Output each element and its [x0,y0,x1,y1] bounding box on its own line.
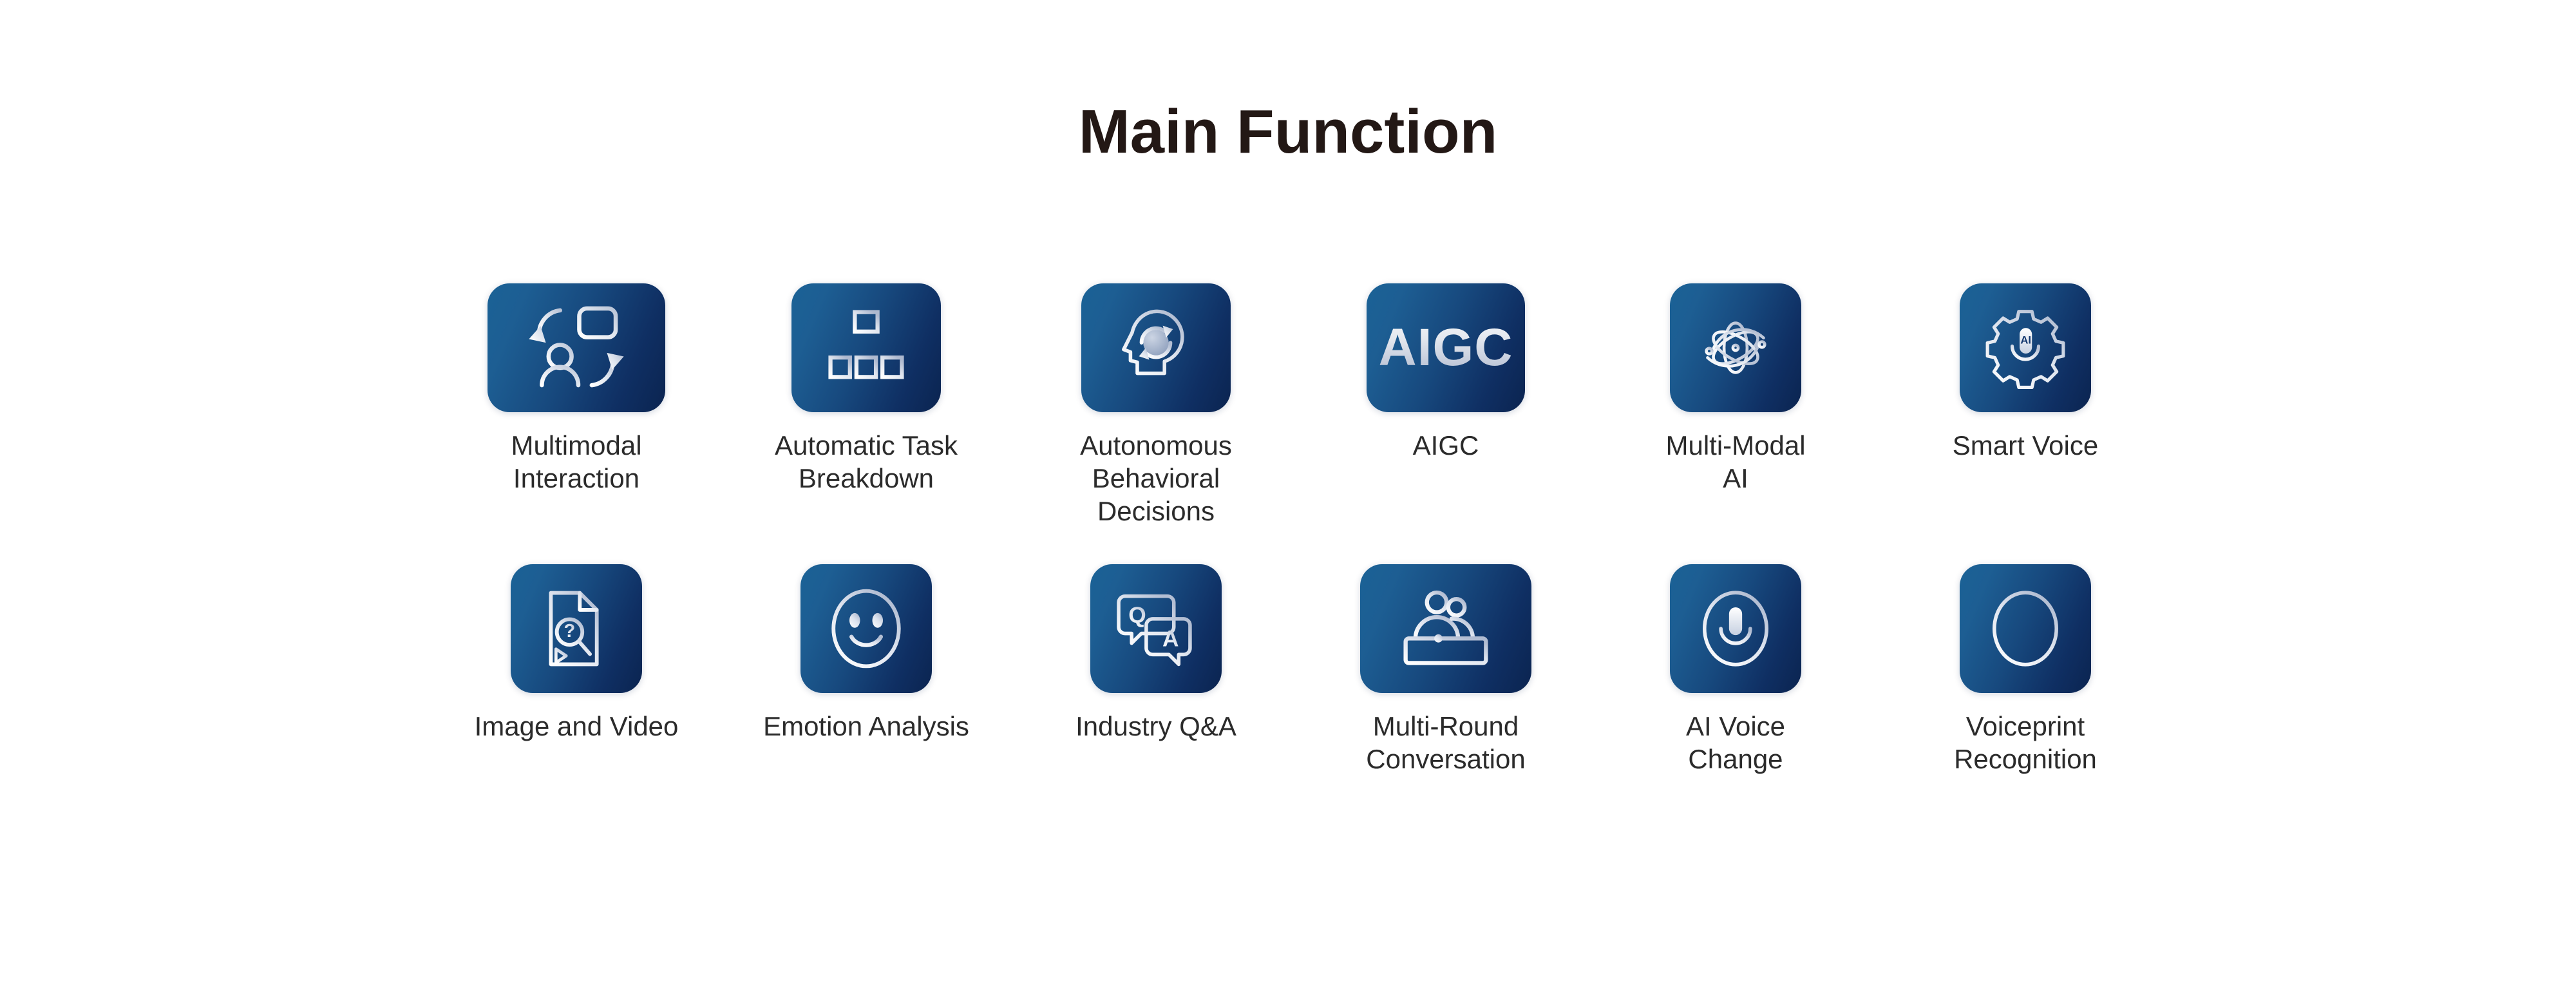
page-title: Main Function [0,97,2576,167]
feature-label: Emotion Analysis [763,710,969,743]
tile-multi-round-conversation[interactable] [1360,564,1531,693]
feature-multi-round-conversation[interactable]: Multi-Round Conversation [1301,564,1591,775]
svg-text:AI: AI [2020,334,2031,346]
feature-label: Smart Voice [1953,429,2098,462]
feature-label: Multimodal Interaction [511,429,641,495]
atom-orbit-icon [1694,307,1777,389]
feature-voiceprint-recognition[interactable]: Voiceprint Recognition [1880,564,2170,775]
qa-speech-bubbles-icon: Q A [1115,586,1197,671]
feature-label: Multi-Round Conversation [1366,710,1525,775]
tile-ai-voice-change[interactable] [1670,564,1801,693]
hierarchy-tree-icon [826,307,907,388]
svg-text:A: A [1162,626,1179,651]
aigc-text-icon: AIGC [1379,318,1513,378]
feature-label: Multi-Modal AI [1665,429,1805,495]
smiley-face-icon [825,586,907,671]
feature-label: AIGC [1413,429,1479,462]
tile-autonomous-behavioral-decisions[interactable] [1081,283,1231,412]
user-screen-sync-icon [528,303,625,393]
tile-multimodal-interaction[interactable] [488,283,665,412]
voice-waveform-circle-icon [1984,586,2067,671]
feature-multimodal-interaction[interactable]: Multimodal Interaction [431,283,721,495]
feature-ai-voice-change[interactable]: AI Voice Change [1591,564,1880,775]
feature-smart-voice[interactable]: AI Smart Voice [1880,283,2170,462]
feature-label: Automatic Task Breakdown [775,429,958,495]
tile-aigc[interactable]: AIGC [1367,283,1525,412]
tile-smart-voice[interactable]: AI [1960,283,2091,412]
feature-label: Autonomous Behavioral Decisions [1080,429,1232,528]
svg-text:?: ? [564,621,576,641]
feature-industry-qa[interactable]: Q A Industry Q&A [1011,564,1301,743]
document-search-play-icon: ? [538,586,615,671]
feature-row-2: ? Image and Video [399,564,2202,775]
tile-industry-qa[interactable]: Q A [1090,564,1222,693]
people-table-icon [1401,587,1491,670]
feature-automatic-task-breakdown[interactable]: Automatic Task Breakdown [721,283,1011,495]
feature-grid: Multimodal Interaction [399,283,2202,775]
tile-automatic-task-breakdown[interactable] [791,283,941,412]
svg-text:Q: Q [1128,603,1146,628]
feature-row-1: Multimodal Interaction [399,283,2202,528]
head-refresh-icon [1113,305,1198,390]
feature-aigc[interactable]: AIGC AIGC [1301,283,1591,462]
feature-label: AI Voice Change [1686,710,1785,775]
feature-image-and-video[interactable]: ? Image and Video [431,564,721,743]
feature-label: Image and Video [475,710,679,743]
tile-multi-modal-ai[interactable] [1670,283,1801,412]
feature-emotion-analysis[interactable]: Emotion Analysis [721,564,1011,743]
main-function-page: Main Function [0,0,2576,1006]
feature-multi-modal-ai[interactable]: Multi-Modal AI [1591,283,1880,495]
tile-voiceprint-recognition[interactable] [1960,564,2091,693]
tile-image-and-video[interactable]: ? [511,564,642,693]
tile-emotion-analysis[interactable] [800,564,932,693]
gear-microphone-ai-icon: AI [1984,307,2067,389]
feature-label: Industry Q&A [1075,710,1236,743]
feature-autonomous-behavioral-decisions[interactable]: Autonomous Behavioral Decisions [1011,283,1301,528]
microphone-circle-icon [1694,586,1777,671]
feature-label: Voiceprint Recognition [1954,710,2097,775]
